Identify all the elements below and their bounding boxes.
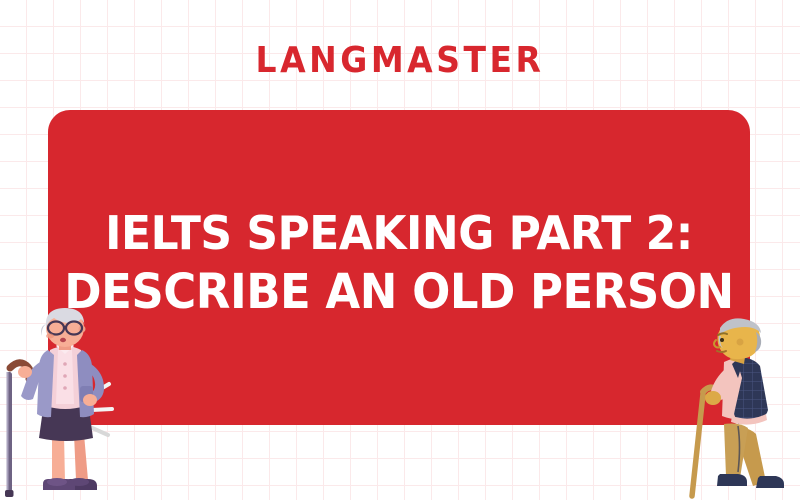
shoes [43,478,97,490]
head [714,318,761,359]
hand-on-cane [18,366,32,378]
elderly-woman-illustration [0,310,128,500]
elderly-man-illustration [680,318,798,500]
card-title-block: IELTS SPEAKING PART 2: DESCRIBE AN OLD P… [48,110,750,425]
hand-on-cane [705,391,721,405]
title-card: IELTS SPEAKING PART 2: DESCRIBE AN OLD P… [48,110,750,425]
head [41,308,85,347]
hand-on-hip [83,394,97,406]
brand-logo: LANGMASTER [0,38,800,80]
card-title-line-2: DESCRIBE AN OLD PERSON [64,268,733,318]
card-title-line-1: IELTS SPEAKING PART 2: [105,210,693,258]
banner-canvas: LANGMASTER IELTS SPEAKING PART 2: DESCRI… [0,0,800,500]
